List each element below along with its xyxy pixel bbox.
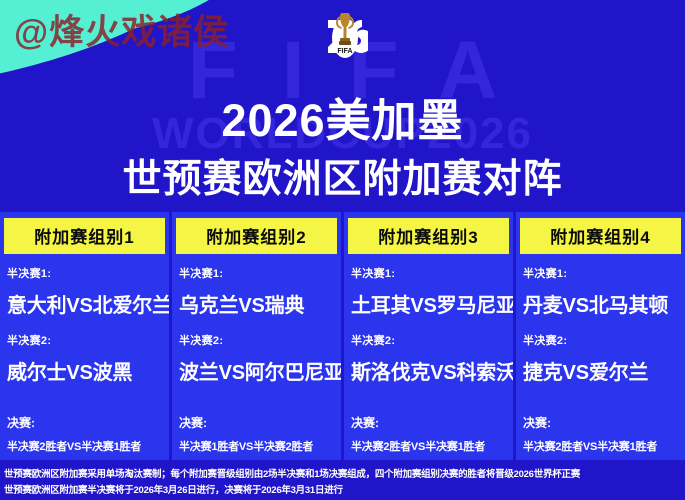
semifinal-1-label: 半决赛1: <box>7 265 162 281</box>
group-title-4: 附加赛组别4 <box>520 218 681 254</box>
semifinal-2-match: 威尔士VS波黑 <box>7 356 162 385</box>
card-spacer <box>523 397 678 410</box>
final-label: 决赛: <box>523 414 678 431</box>
semifinal-1-match: 丹麦VS北马其顿 <box>523 289 678 318</box>
semifinal-2-label: 半决赛2: <box>351 332 506 348</box>
footer-line-1: 世预赛欧洲区附加赛采用单场淘汰赛制；每个附加赛晋级组别由2场半决赛和1场决赛组成… <box>4 470 681 480</box>
svg-text:FIFA: FIFA <box>337 48 352 55</box>
final-match: 半决赛2胜者VS半决赛1胜者 <box>7 438 162 454</box>
semifinal-1-label: 半决赛1: <box>523 265 678 281</box>
final-match: 半决赛2胜者VS半决赛1胜者 <box>351 438 506 454</box>
footer-notes: 世预赛欧洲区附加赛采用单场淘汰赛制；每个附加赛晋级组别由2场半决赛和1场决赛组成… <box>0 460 685 500</box>
playoff-groups-container: 附加赛组别1 半决赛1: 意大利VS北爱尔兰 半决赛2: 威尔士VS波黑 决赛:… <box>0 212 685 460</box>
final-label: 决赛: <box>7 414 162 431</box>
group-body-2: 半决赛1: 乌克兰VS瑞典 半决赛2: 波兰VS阿尔巴尼亚 决赛: 半决赛1胜者… <box>172 254 341 454</box>
group-body-3: 半决赛1: 土耳其VS罗马尼亚 半决赛2: 斯洛伐克VS科索沃 决赛: 半决赛2… <box>344 254 513 454</box>
group-body-4: 半决赛1: 丹麦VS北马其顿 半决赛2: 捷克VS爱尔兰 决赛: 半决赛2胜者V… <box>516 254 685 454</box>
semifinal-1-label: 半决赛1: <box>351 265 506 281</box>
card-spacer <box>179 397 334 410</box>
fifa-26-logo: FIFA <box>322 6 368 68</box>
group-body-1: 半决赛1: 意大利VS北爱尔兰 半决赛2: 威尔士VS波黑 决赛: 半决赛2胜者… <box>0 254 169 454</box>
card-spacer <box>351 397 506 410</box>
group-card-1[interactable]: 附加赛组别1 半决赛1: 意大利VS北爱尔兰 半决赛2: 威尔士VS波黑 决赛:… <box>0 212 169 460</box>
semifinal-1-label: 半决赛1: <box>179 265 334 281</box>
group-card-3[interactable]: 附加赛组别3 半决赛1: 土耳其VS罗马尼亚 半决赛2: 斯洛伐克VS科索沃 决… <box>344 212 513 460</box>
hero-banner: FIFA WORLDCUP2026 @烽火戏诸侯 FIFA 2026美加墨 世预… <box>0 0 685 212</box>
semifinal-2-label: 半决赛2: <box>179 332 334 348</box>
semifinal-1-match: 乌克兰VS瑞典 <box>179 289 334 318</box>
final-label: 决赛: <box>179 414 334 431</box>
semifinal-1-match: 土耳其VS罗马尼亚 <box>351 289 506 318</box>
semifinal-2-label: 半决赛2: <box>523 332 678 348</box>
page-title-secondary: 世预赛欧洲区附加赛对阵 <box>0 148 685 204</box>
semifinal-2-match: 捷克VS爱尔兰 <box>523 356 678 385</box>
group-title-1: 附加赛组别1 <box>4 218 165 254</box>
group-title-3: 附加赛组别3 <box>348 218 509 254</box>
semifinal-2-match: 斯洛伐克VS科索沃 <box>351 356 506 385</box>
semifinal-2-label: 半决赛2: <box>7 332 162 348</box>
page-title-primary: 2026美加墨 <box>0 84 685 149</box>
semifinal-1-match: 意大利VS北爱尔兰 <box>7 289 162 318</box>
semifinal-2-match: 波兰VS阿尔巴尼亚 <box>179 356 334 385</box>
account-watermark: @烽火戏诸侯 <box>14 4 229 55</box>
group-card-4[interactable]: 附加赛组别4 半决赛1: 丹麦VS北马其顿 半决赛2: 捷克VS爱尔兰 决赛: … <box>516 212 685 460</box>
final-match: 半决赛2胜者VS半决赛1胜者 <box>523 438 678 454</box>
footer-line-2: 世预赛欧洲区附加赛半决赛将于2026年3月26日进行，决赛将于2026年3月31… <box>4 486 681 496</box>
final-match: 半决赛1胜者VS半决赛2胜者 <box>179 438 334 454</box>
final-label: 决赛: <box>351 414 506 431</box>
group-title-2: 附加赛组别2 <box>176 218 337 254</box>
group-card-2[interactable]: 附加赛组别2 半决赛1: 乌克兰VS瑞典 半决赛2: 波兰VS阿尔巴尼亚 决赛:… <box>172 212 341 460</box>
card-spacer <box>7 397 162 410</box>
